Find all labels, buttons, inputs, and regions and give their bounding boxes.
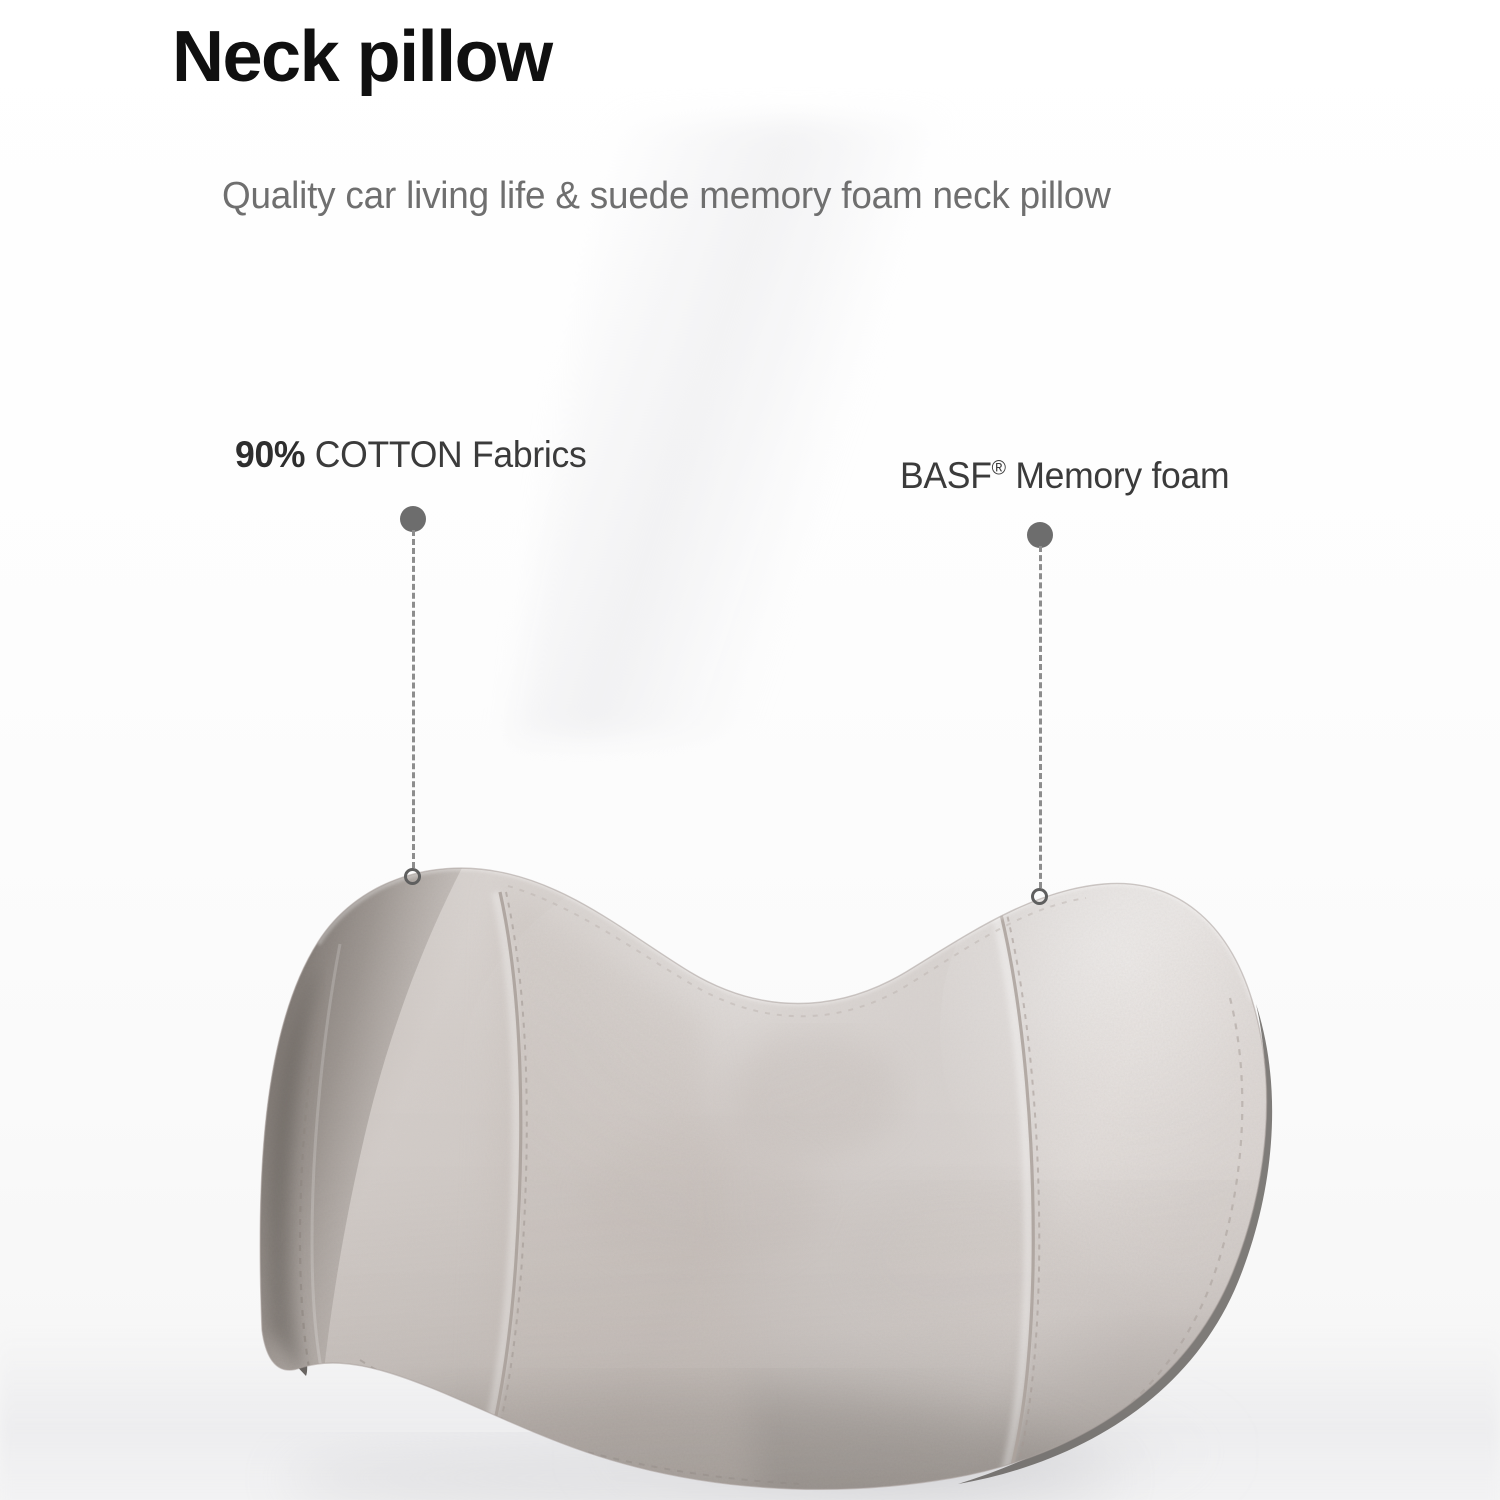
callout-cotton-material: COTTON: [305, 434, 462, 475]
callout-cotton-leader-line: [412, 530, 415, 868]
callout-cotton-suffix: Fabrics: [462, 434, 586, 475]
callout-basf-brand: BASF: [900, 455, 992, 496]
callout-basf-leader-line: [1039, 546, 1042, 888]
callout-cotton-target-ring-icon: [404, 868, 421, 885]
callout-basf-suffix: Memory foam: [1006, 455, 1230, 496]
page-subtitle: Quality car living life & suede memory f…: [222, 175, 1111, 218]
callout-basf-target-ring-icon: [1031, 888, 1048, 905]
product-infographic: Neck pillow Quality car living life & su…: [0, 0, 1500, 1500]
callout-basf-label: BASF® Memory foam: [900, 455, 1229, 497]
registered-trademark-icon: ®: [992, 458, 1006, 480]
page-title: Neck pillow: [172, 20, 552, 96]
background-floor-shade: [0, 1330, 1500, 1500]
callout-basf-dot-icon: [1027, 522, 1053, 548]
callout-cotton-percent: 90%: [235, 434, 305, 475]
callout-cotton-dot-icon: [400, 506, 426, 532]
callout-cotton-label: 90% COTTON Fabrics: [235, 434, 586, 476]
